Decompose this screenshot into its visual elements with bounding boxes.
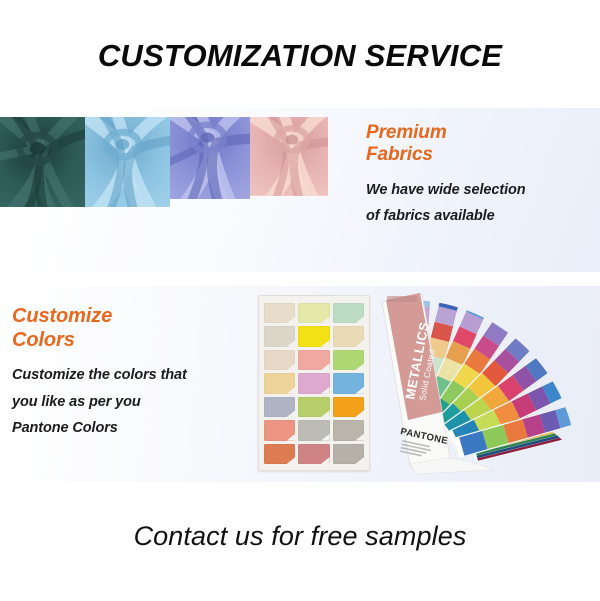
- fabric-swatch-light-blue: [85, 117, 170, 271]
- pantone-fan-deck-illustration: METALLICS Solid Coated PANTONE: [376, 282, 598, 480]
- fabric-swatch-dark-teal: [0, 117, 85, 271]
- customize-colors-block: Customize Colors Customize the colors th…: [12, 305, 252, 441]
- fabric-swirl-icon: [170, 117, 250, 199]
- premium-fabrics-description-line2: of fabrics available: [366, 204, 598, 230]
- color-chip: [333, 326, 364, 346]
- premium-fabrics-description: We have wide selection of fabrics availa…: [366, 178, 598, 230]
- fabric-swirl-icon: [250, 117, 328, 196]
- color-chip: [298, 444, 329, 464]
- customize-colors-description-line3: Pantone Colors: [12, 415, 252, 441]
- premium-fabrics-heading-line1: Premium: [366, 122, 598, 144]
- color-swatch-card: [258, 295, 370, 471]
- footer-cta: Contact us for free samples: [0, 521, 600, 552]
- premium-fabrics-block: Premium Fabrics We have wide selection o…: [366, 122, 598, 229]
- color-chip: [264, 303, 295, 323]
- customize-colors-description: Customize the colors that you like as pe…: [12, 362, 252, 441]
- color-chip: [333, 373, 364, 393]
- fabric-swatch-periwinkle: [170, 117, 250, 271]
- poster-canvas: CUSTOMIZATION SERVICE: [0, 0, 600, 601]
- customize-colors-description-line1: Customize the colors that: [12, 362, 252, 388]
- color-chip: [298, 326, 329, 346]
- color-chip: [333, 444, 364, 464]
- premium-fabrics-heading-line2: Fabrics: [366, 144, 598, 166]
- color-chip: [264, 326, 295, 346]
- color-chip: [264, 420, 295, 440]
- color-chip: [298, 397, 329, 417]
- color-chip: [333, 350, 364, 370]
- page-title: CUSTOMIZATION SERVICE: [0, 38, 600, 74]
- customize-colors-description-line2: you like as per you: [12, 389, 252, 415]
- color-chip: [298, 373, 329, 393]
- color-chip: [264, 444, 295, 464]
- color-chip: [264, 373, 295, 393]
- fabric-swirl-icon: [0, 117, 85, 207]
- color-chip: [298, 420, 329, 440]
- premium-fabrics-description-line1: We have wide selection: [366, 178, 598, 204]
- color-chip: [298, 303, 329, 323]
- customize-colors-heading: Customize Colors: [12, 305, 252, 352]
- pantone-fan-deck: METALLICS Solid Coated PANTONE: [376, 282, 598, 480]
- color-chip: [264, 397, 295, 417]
- color-chip: [333, 420, 364, 440]
- customize-colors-heading-line1: Customize: [12, 305, 252, 329]
- color-chip: [264, 350, 295, 370]
- color-chip: [333, 397, 364, 417]
- premium-fabrics-heading: Premium Fabrics: [366, 122, 598, 167]
- customize-colors-heading-line2: Colors: [12, 329, 252, 353]
- color-chip: [298, 350, 329, 370]
- fabric-photo-strip: [0, 117, 328, 271]
- color-chip: [333, 303, 364, 323]
- fabric-swirl-icon: [85, 117, 170, 207]
- fabric-swatch-blush-pink: [250, 117, 328, 271]
